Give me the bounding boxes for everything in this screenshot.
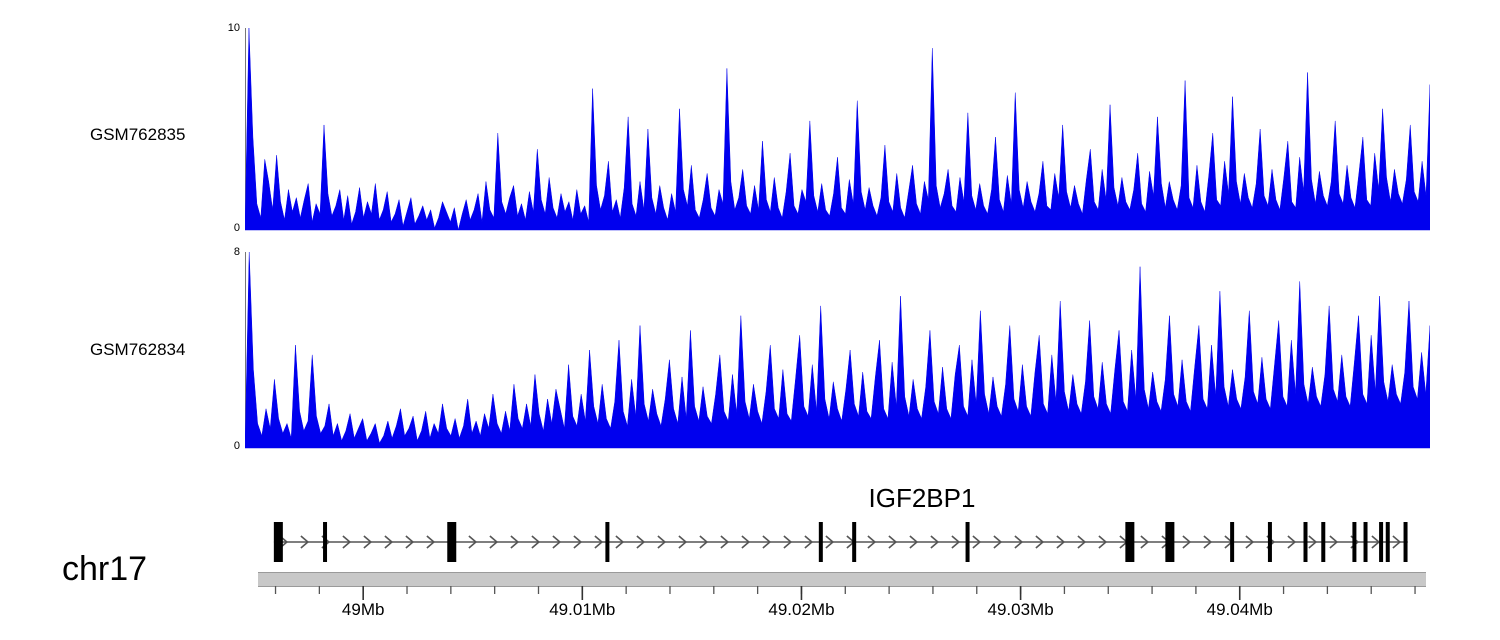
ruler-tick-label: 49Mb	[342, 600, 385, 620]
gene-exon	[1379, 522, 1383, 562]
gene-exon	[1230, 522, 1234, 562]
gene-exon	[1125, 522, 1134, 562]
gene-model-track	[245, 515, 1430, 570]
genome-browser-figure: GSM762835 10 0 GSM762834 8 0 IGF2BP1 chr…	[0, 0, 1500, 640]
gene-exon	[1364, 522, 1368, 562]
ruler-tick-label: 49.01Mb	[549, 600, 615, 620]
gene-exon	[605, 522, 609, 562]
track2-axis-max-label: 8	[210, 246, 240, 258]
gene-exon	[1165, 522, 1174, 562]
track1-axis-min-label: 0	[210, 222, 240, 234]
gene-exon	[1303, 522, 1307, 562]
gene-exon	[852, 522, 856, 562]
gene-name-label: IGF2BP1	[869, 483, 976, 514]
gene-exon	[966, 522, 970, 562]
track1-axis-max-label: 10	[210, 22, 240, 34]
coverage-track-gsm762835	[245, 28, 1430, 238]
track1-coverage-area	[245, 28, 1430, 230]
ruler-tick-label: 49.02Mb	[768, 600, 834, 620]
gene-exon	[819, 522, 823, 562]
gene-exon	[323, 522, 327, 562]
track-label-gsm762834: GSM762834	[90, 340, 185, 360]
gene-exon	[447, 522, 456, 562]
ruler-bar	[258, 572, 1426, 587]
ruler-tick-label: 49.04Mb	[1207, 600, 1273, 620]
gene-exon	[1268, 522, 1272, 562]
gene-exon	[1386, 522, 1390, 562]
gene-exon	[1404, 522, 1408, 562]
gene-exon	[1321, 522, 1325, 562]
gene-body	[274, 522, 1408, 562]
track2-coverage-area	[245, 252, 1430, 448]
gene-exon	[274, 522, 283, 562]
track2-axis-min-label: 0	[210, 440, 240, 452]
track-label-gsm762835: GSM762835	[90, 125, 185, 145]
chromosome-label: chr17	[62, 550, 147, 589]
ruler-tick-label: 49.03Mb	[988, 600, 1054, 620]
gene-exon	[1352, 522, 1356, 562]
coverage-track-gsm762834	[245, 252, 1430, 457]
